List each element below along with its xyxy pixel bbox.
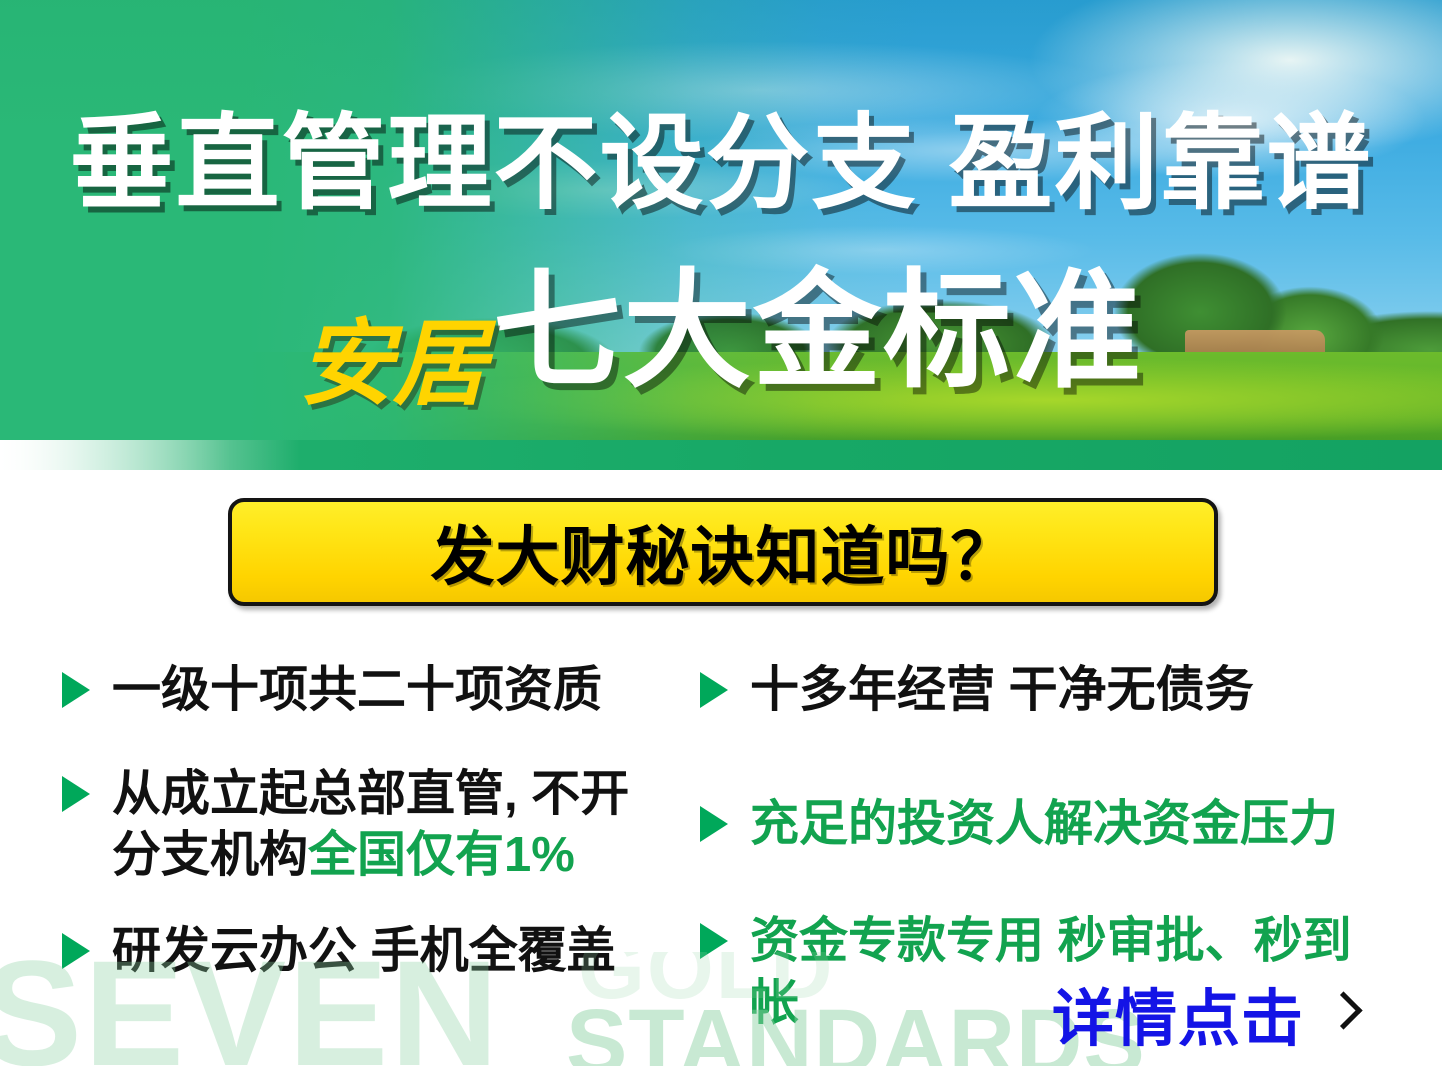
list-item: 十多年经营 干净无债务 [700,660,1400,722]
triangle-right-icon [62,672,90,708]
feature-line-2-highlight: 全国仅有1% [308,828,575,882]
feature-text: 充足的投资人解决资金压力 [750,794,1338,856]
feature-text: 一级十项共二十项资质 [112,660,602,722]
features-section: 一级十项共二十项资质 从成立起总部直管, 不开 分支机构全国仅有1% 研发云办公… [0,660,1442,990]
list-item: 一级十项共二十项资质 [62,660,702,722]
feature-line-2: 分支机构 [112,828,308,882]
brand-name-anju: 安居 [299,318,487,412]
list-item: 研发云办公 手机全覆盖 [62,921,702,983]
headline-secondary-row: 安居七大金标准 [0,268,1442,396]
triangle-right-icon [700,806,728,842]
feature-text: 研发云办公 手机全覆盖 [112,921,616,983]
details-cta-label: 详情点击 [1052,968,1304,1058]
headline-primary: 垂直管理不设分支 盈利靠谱 [0,112,1442,216]
triangle-right-icon [700,672,728,708]
details-cta-button[interactable]: 详情点击 [1052,968,1354,1058]
feature-line-1: 一级十项共二十项资质 [112,663,602,717]
chevron-right-icon [1328,991,1354,1035]
hero-strip-fade [0,440,300,470]
question-banner-label: 发大财秘诀知道吗？ [431,506,1016,598]
hero-section: 垂直管理不设分支 盈利靠谱 安居七大金标准 [0,0,1442,470]
advertisement-banner: 垂直管理不设分支 盈利靠谱 安居七大金标准 发大财秘诀知道吗？ 一级十项共二十项… [0,0,1442,1066]
headline-secondary: 七大金标准 [493,268,1143,396]
question-banner[interactable]: 发大财秘诀知道吗？ [228,498,1218,606]
list-item: 充足的投资人解决资金压力 [700,794,1400,856]
triangle-right-icon [700,923,728,959]
features-column-left: 一级十项共二十项资质 从成立起总部直管, 不开 分支机构全国仅有1% 研发云办公… [62,660,702,1017]
triangle-right-icon [62,933,90,969]
feature-text: 从成立起总部直管, 不开 分支机构全国仅有1% [112,764,629,887]
feature-text: 十多年经营 干净无债务 [750,660,1254,722]
list-item: 从成立起总部直管, 不开 分支机构全国仅有1% [62,764,702,887]
feature-line-1: 研发云办公 手机全覆盖 [112,924,616,978]
triangle-right-icon [62,776,90,812]
feature-line-1: 从成立起总部直管, 不开 [112,767,629,821]
